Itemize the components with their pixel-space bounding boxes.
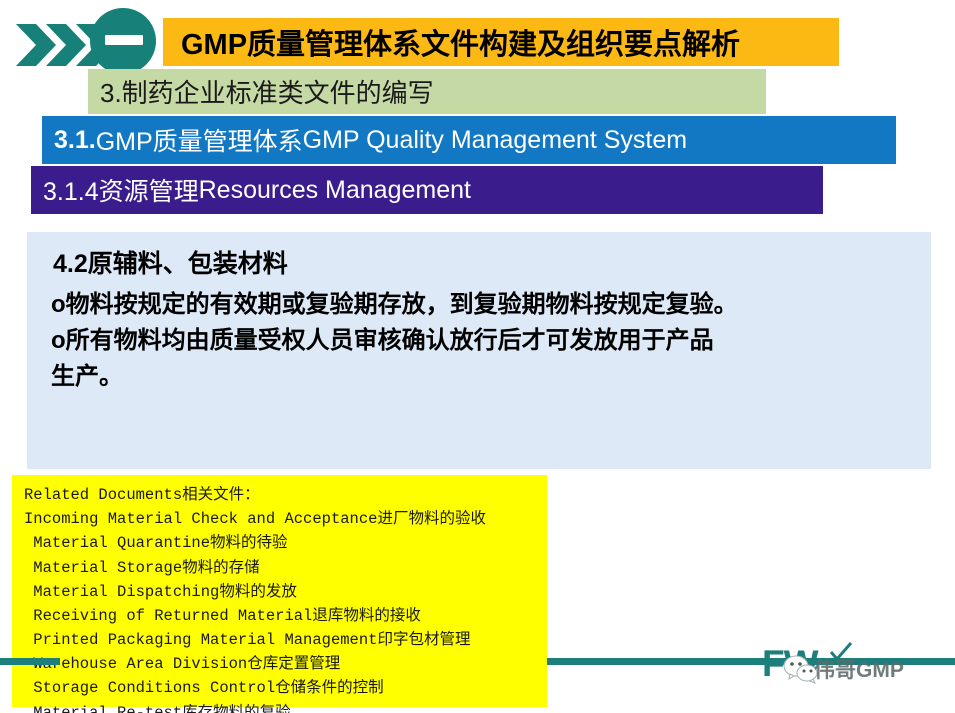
related-document-item: Material Quarantine物料的待验 bbox=[24, 531, 541, 555]
banner-main-title: GMP质量管理体系文件构建及组织要点解析 bbox=[163, 18, 839, 66]
related-document-item: Storage Conditions Control仓储条件的控制 bbox=[24, 676, 541, 700]
banner-topic-title: 3.1.4资源管理Resources Management bbox=[31, 166, 823, 214]
banner-subsection-title: 3.1.GMP质量管理体系GMP Quality Management Syst… bbox=[42, 116, 896, 164]
related-documents-box: Related Documents相关文件： Incoming Material… bbox=[12, 475, 547, 707]
related-document-item: Material Re-test库存物料的复验 bbox=[24, 701, 541, 713]
related-document-item: Material Dispatching物料的发放 bbox=[24, 580, 541, 604]
related-document-item: Receiving of Returned Material退库物料的接收 bbox=[24, 604, 541, 628]
subsection-title-cn: GMP质量管理体系 bbox=[96, 122, 303, 158]
content-panel: 4.2原辅料、包装材料 o物料按规定的有效期或复验期存放，到复验期物料按规定复验… bbox=[27, 232, 931, 469]
related-documents-title: Related Documents相关文件： bbox=[24, 483, 541, 507]
watermark-logo: FW 伟哥GMP bbox=[762, 643, 902, 691]
related-document-item: Warehouse Area Division仓库定置管理 bbox=[24, 652, 541, 676]
footer-rule-left bbox=[0, 658, 60, 665]
watermark-label: 伟哥GMP bbox=[814, 654, 904, 684]
topic-title-en: Resources Management bbox=[199, 176, 471, 205]
topic-title-cn: 3.1.4资源管理 bbox=[43, 172, 199, 208]
content-bullet-1: o物料按规定的有效期或复验期存放，到复验期物料按规定复验。 bbox=[51, 287, 917, 323]
subsection-number: 3.1. bbox=[54, 126, 96, 155]
related-document-item: Printed Packaging Material Management印字包… bbox=[24, 628, 541, 652]
main-title-text: GMP质量管理体系文件构建及组织要点解析 bbox=[181, 21, 740, 63]
section-title-text: 3.制药企业标准类文件的编写 bbox=[100, 73, 434, 110]
circle-dash-decoration bbox=[105, 35, 143, 45]
subsection-title-en: GMP Quality Management System bbox=[303, 126, 687, 155]
content-heading: 4.2原辅料、包装材料 bbox=[53, 248, 917, 281]
banner-section-title: 3.制药企业标准类文件的编写 bbox=[88, 69, 766, 114]
related-document-item: Material Storage物料的存储 bbox=[24, 556, 541, 580]
content-bullet-3: 生产。 bbox=[51, 359, 917, 395]
slide-canvas: GMP质量管理体系文件构建及组织要点解析 3.制药企业标准类文件的编写 3.1.… bbox=[0, 0, 955, 713]
related-document-item: Incoming Material Check and Acceptance进厂… bbox=[24, 507, 541, 531]
content-bullet-2: o所有物料均由质量受权人员审核确认放行后才可发放用于产品 bbox=[51, 323, 917, 359]
